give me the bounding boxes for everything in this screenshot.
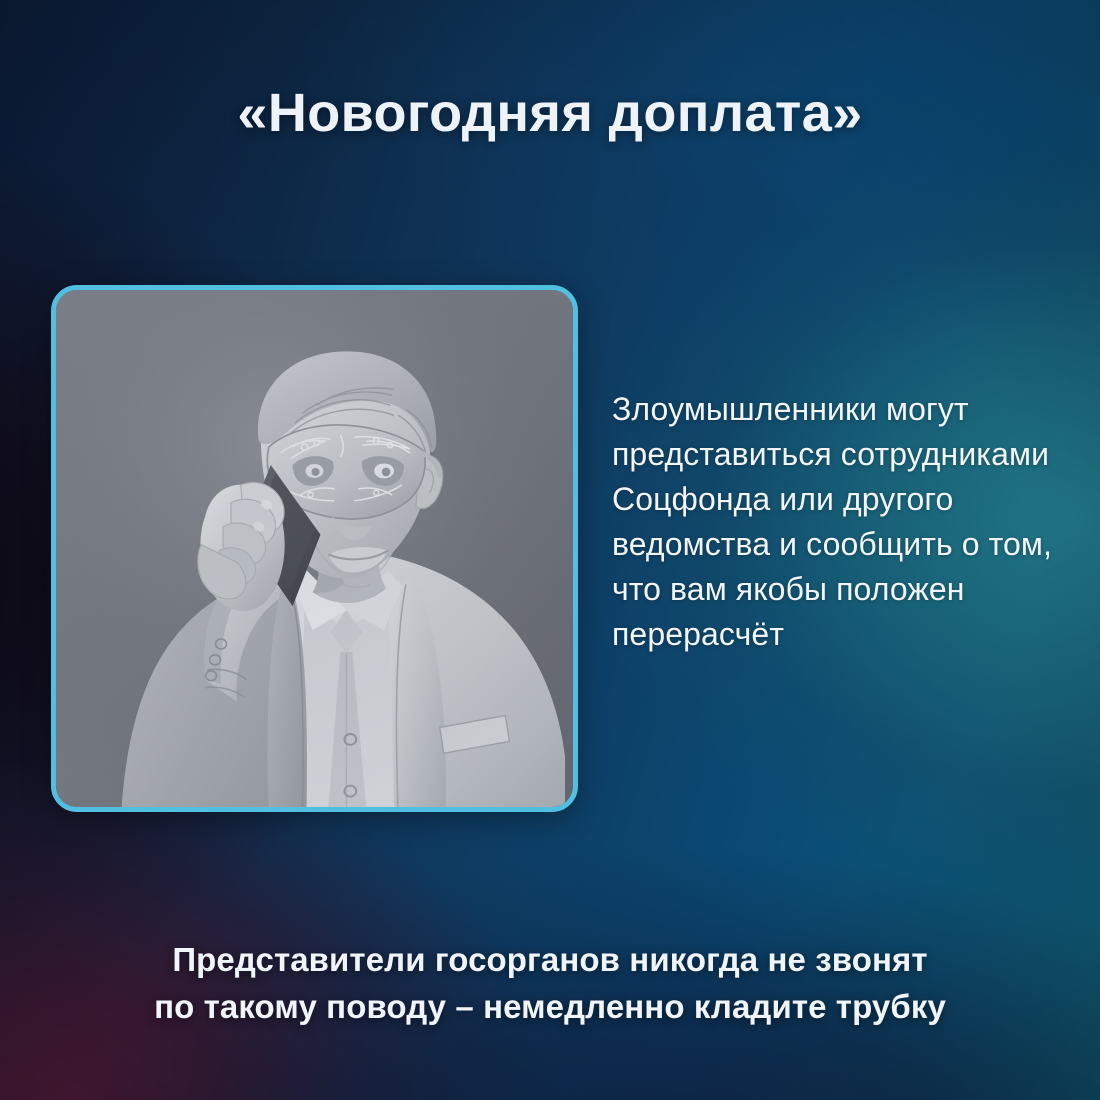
description-text: Злоумышленники могут представиться сотру…: [612, 387, 1060, 657]
warning-line-1: Представители госорганов никогда не звон…: [0, 936, 1100, 983]
poster-title: «Новогодняя доплата»: [0, 82, 1100, 144]
warning-line-2: по такому поводу – немедленно кладите тр…: [0, 983, 1100, 1030]
warning-message: Представители госорганов никогда не звон…: [0, 936, 1100, 1030]
masked-man-on-phone-illustration: [56, 290, 573, 807]
illustration-frame: [51, 285, 578, 812]
poster-canvas: «Новогодняя доплата»: [0, 0, 1100, 1100]
illustration-light-overlay: [56, 290, 573, 807]
